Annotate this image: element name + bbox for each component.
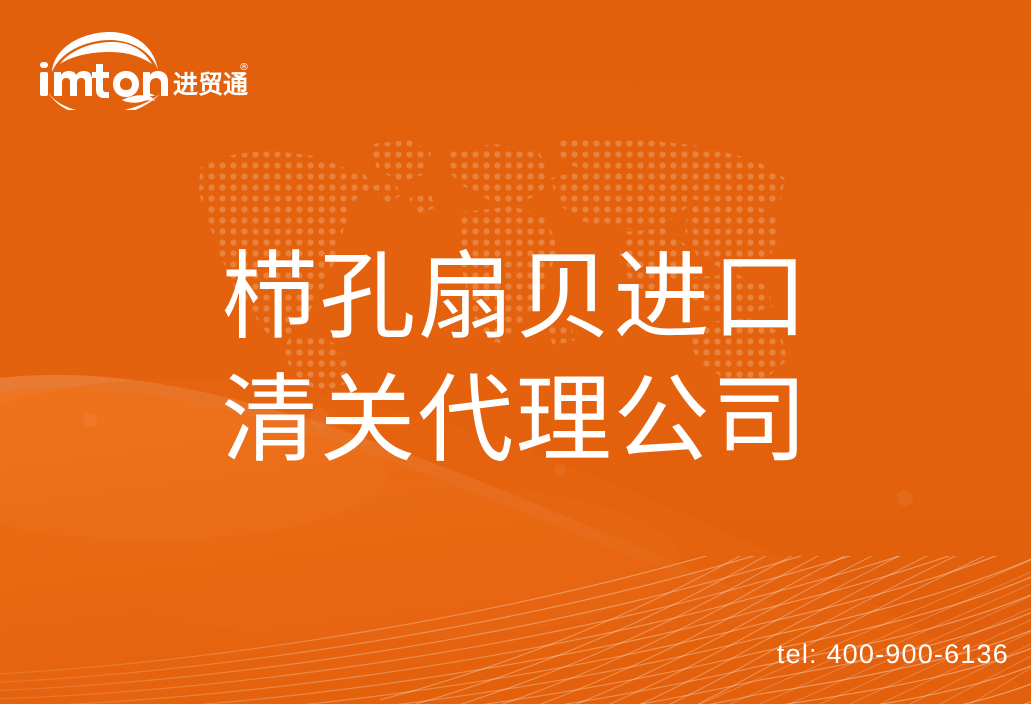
logo-chinese-label: 进贸通 <box>173 70 248 99</box>
logo-chinese-text: 进贸通 <box>173 70 248 99</box>
promo-banner: 进贸通 ® 栉孔扇贝进口 清关代理公司 tel: 400-900-6136 <box>0 0 1031 704</box>
headline-line-2: 清关代理公司 <box>0 359 1031 482</box>
contact-phone[interactable]: tel: 400-900-6136 <box>777 639 1009 670</box>
headline-line-1: 栉孔扇贝进口 <box>0 236 1031 359</box>
company-logo[interactable]: 进贸通 ® <box>34 30 249 110</box>
page-title: 栉孔扇贝进口 清关代理公司 <box>0 236 1031 482</box>
logo-wordmark <box>40 62 168 98</box>
registered-mark: ® <box>239 62 249 73</box>
globe-arc-icon <box>52 32 158 72</box>
